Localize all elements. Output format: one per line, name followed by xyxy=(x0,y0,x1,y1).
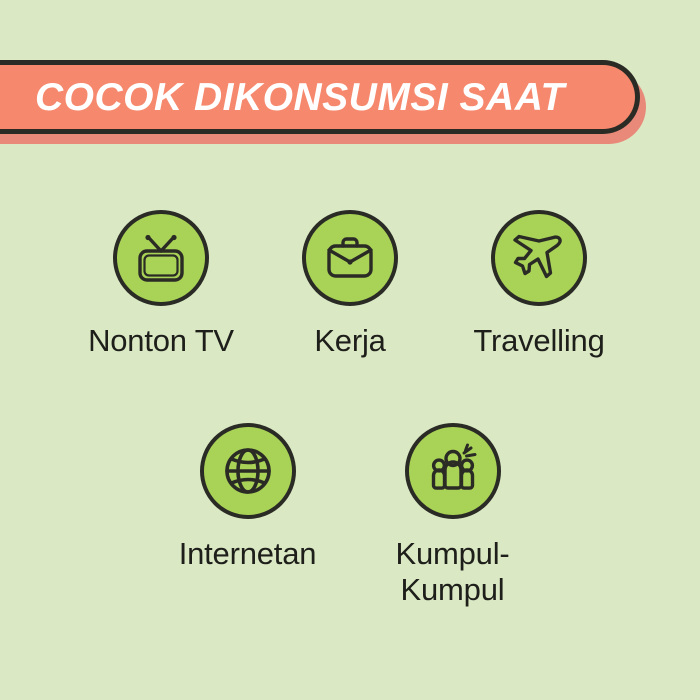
tv-icon xyxy=(131,228,191,288)
icon-circle xyxy=(302,210,398,306)
feature-item-travelling[interactable]: Travelling xyxy=(445,210,634,359)
icon-row-bottom: Internetan Kumpul- Kumpul xyxy=(0,423,700,608)
globe-icon xyxy=(220,443,276,499)
briefcase-icon xyxy=(321,229,379,287)
icon-circle xyxy=(405,423,501,519)
page-title: COCOK DIKONSUMSI SAAT xyxy=(0,78,565,117)
feature-label: Nonton TV xyxy=(88,323,234,359)
feature-item-kumpul-kumpul[interactable]: Kumpul- Kumpul xyxy=(350,423,555,608)
icon-circle xyxy=(491,210,587,306)
icon-circle xyxy=(113,210,209,306)
feature-label: Kumpul- Kumpul xyxy=(395,536,509,608)
icon-row-top: Nonton TV Kerja Travelling xyxy=(0,210,700,359)
feature-item-internetan[interactable]: Internetan xyxy=(145,423,350,608)
header-banner: COCOK DIKONSUMSI SAAT xyxy=(0,60,640,134)
feature-label: Travelling xyxy=(473,323,604,359)
feature-label: Internetan xyxy=(179,536,317,572)
icon-circle xyxy=(200,423,296,519)
feature-label: Kerja xyxy=(314,323,385,359)
feature-item-nonton-tv[interactable]: Nonton TV xyxy=(67,210,256,359)
banner-body: COCOK DIKONSUMSI SAAT xyxy=(0,60,640,134)
people-group-icon xyxy=(425,443,481,499)
feature-item-kerja[interactable]: Kerja xyxy=(256,210,445,359)
airplane-icon xyxy=(509,228,569,288)
